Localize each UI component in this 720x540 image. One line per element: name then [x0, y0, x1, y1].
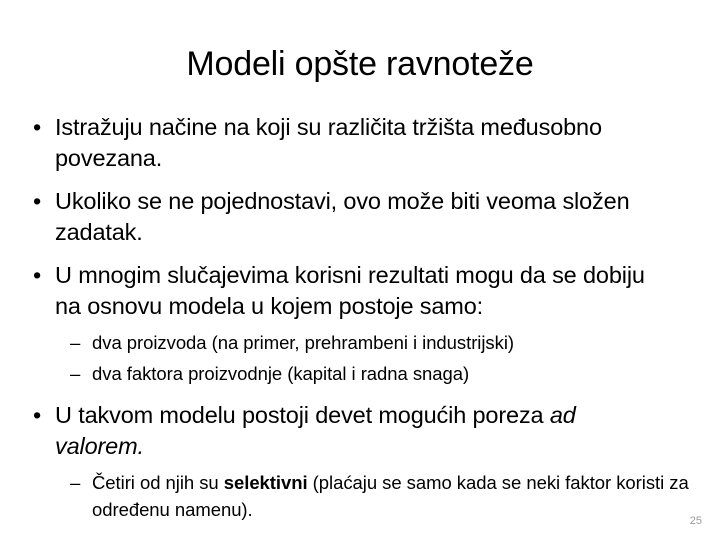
sub-bullet-item: – Četiri od njih su selektivni (plaćaju … [24, 469, 696, 523]
page-number: 25 [690, 514, 702, 528]
bullet-item: • U takvom modelu postoji devet mogućih … [24, 400, 665, 462]
sub-bullet-item: – dva faktora proizvodnje (kapital i rad… [24, 360, 696, 387]
bullet-marker-dash: – [70, 329, 80, 356]
bullet-marker-dash: – [70, 360, 80, 387]
bullet-marker-dot: • [33, 186, 41, 217]
bullet-marker-dot: • [33, 260, 41, 291]
page-title: Modeli opšte ravnoteže [36, 44, 684, 84]
sub-bullet-text: dva proizvoda (na primer, prehrambeni i … [92, 332, 514, 353]
presentation-slide: Modeli opšte ravnoteže • Istražuju način… [0, 0, 720, 540]
bullet-marker-dot: • [33, 400, 41, 431]
bullet-item: • Istražuju načine na koji su različita … [24, 112, 665, 174]
sub-bullet-text-bold: selektivni [224, 472, 308, 493]
bullet-text: U mnogim slučajevima korisni rezultati m… [55, 262, 645, 319]
bullet-text: Ukoliko se ne pojednostavi, ovo može bit… [55, 188, 630, 245]
bullet-marker-dash: – [70, 469, 80, 496]
sub-bullet-text: dva faktora proizvodnje (kapital i radna… [92, 363, 469, 384]
sub-bullet-text: Četiri od njih su [92, 472, 224, 493]
bullet-text: Istražuju načine na koji su različita tr… [55, 114, 602, 171]
bullet-item: • U mnogim slučajevima korisni rezultati… [24, 260, 665, 322]
bullet-marker-dot: • [33, 112, 41, 143]
bullet-text: U takvom modelu postoji devet mogućih po… [55, 402, 550, 428]
sub-bullet-item: – dva proizvoda (na primer, prehrambeni … [24, 329, 696, 356]
slide-body: • Istražuju načine na koji su različita … [24, 112, 696, 527]
bullet-item: • Ukoliko se ne pojednostavi, ovo može b… [24, 186, 665, 248]
